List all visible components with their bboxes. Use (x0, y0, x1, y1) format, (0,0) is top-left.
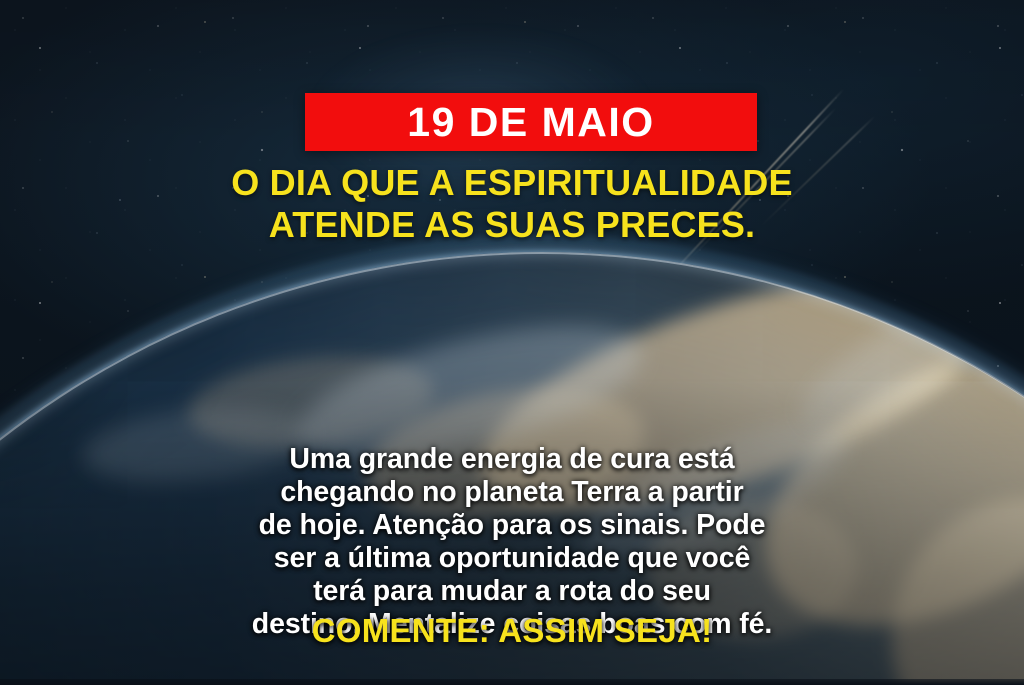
headline-line-2: ATENDE AS SUAS PRECES. (0, 204, 1024, 246)
body-line-5: terá para mudar a rota do seu (0, 575, 1024, 608)
body-line-1: Uma grande energia de cura está (0, 443, 1024, 476)
headline: O DIA QUE A ESPIRITUALIDADE ATENDE AS SU… (0, 162, 1024, 247)
poster-content: 19 DE MAIO O DIA QUE A ESPIRITUALIDADE A… (0, 0, 1024, 685)
call-to-action-text: COMENTE: ASSIM SEJA! (0, 612, 1024, 650)
body-line-4: ser a última oportunidade que você (0, 542, 1024, 575)
poster-canvas: 19 DE MAIO O DIA QUE A ESPIRITUALIDADE A… (0, 0, 1024, 685)
bottom-edge-strip (0, 679, 1024, 685)
body-line-2: chegando no planeta Terra a partir (0, 476, 1024, 509)
body-line-3: de hoje. Atenção para os sinais. Pode (0, 509, 1024, 542)
date-banner: 19 DE MAIO (305, 93, 757, 151)
headline-line-1: O DIA QUE A ESPIRITUALIDADE (0, 162, 1024, 204)
date-banner-label: 19 DE MAIO (407, 102, 654, 143)
